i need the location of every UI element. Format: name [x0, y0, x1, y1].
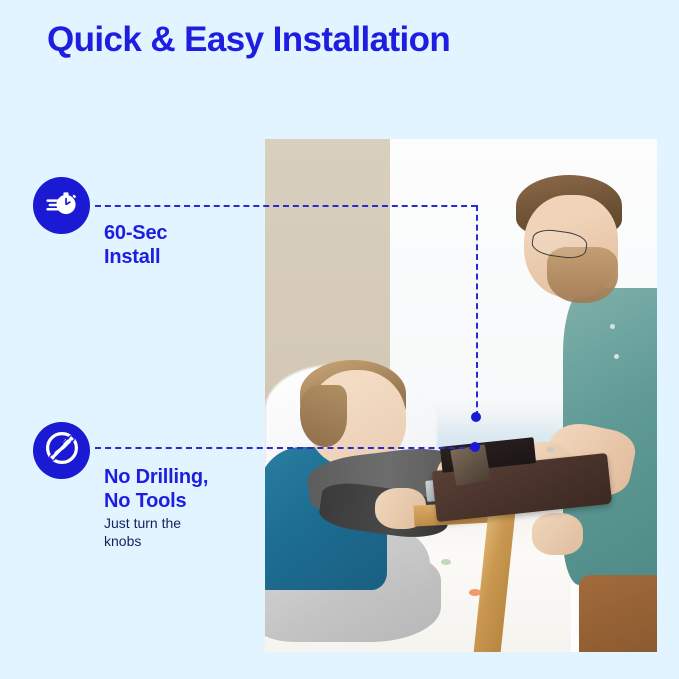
- feature-title-timer-line1: 60-Sec: [104, 222, 167, 246]
- feature-subtitle-no-tools: Just turn the knobs: [104, 514, 181, 551]
- page-title: Quick & Easy Installation: [47, 20, 450, 60]
- photo-man-shirt-button: [610, 324, 615, 329]
- photo-man-hand-lower: [532, 513, 583, 554]
- photo-man-pants: [579, 575, 657, 652]
- feature-badge-timer[interactable]: [33, 177, 90, 234]
- feature-badge-no-tools[interactable]: [33, 422, 90, 479]
- feature-title-no-tools-line1: No Drilling,: [104, 466, 208, 490]
- feature-title-no-tools-line2: No Tools: [104, 490, 208, 514]
- feature-title-no-tools: No Drilling, No Tools: [104, 466, 208, 513]
- connector-timer-vertical: [476, 205, 478, 417]
- connector-notools-horizontal: [95, 447, 475, 449]
- photo-man-wedding-ring: [547, 447, 554, 452]
- photo-boy-hair-side: [300, 385, 347, 447]
- stopwatch-speed-icon: [44, 185, 80, 226]
- feature-subtitle-no-tools-line2: knobs: [104, 532, 181, 550]
- feature-subtitle-no-tools-line1: Just turn the: [104, 514, 181, 532]
- connector-timer-horizontal: [95, 205, 477, 207]
- feature-title-timer-line2: Install: [104, 246, 167, 270]
- product-photo: [265, 139, 657, 652]
- feature-title-timer: 60-Sec Install: [104, 222, 167, 269]
- connector-timer-endpoint: [471, 412, 481, 422]
- connector-notools-endpoint: [470, 442, 480, 452]
- no-tools-hammer-icon: [42, 428, 82, 473]
